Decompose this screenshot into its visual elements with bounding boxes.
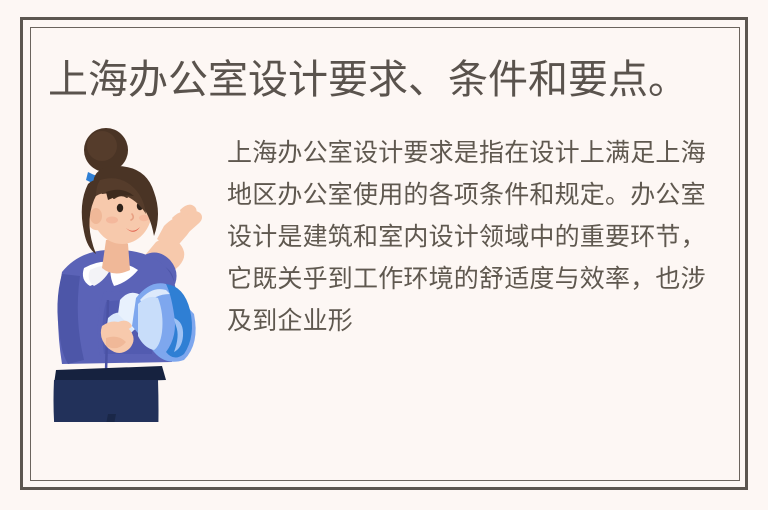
poster-canvas: 上海办公室设计要求、条件和要点。: [0, 0, 768, 510]
page-title: 上海办公室设计要求、条件和要点。: [48, 56, 720, 104]
woman-with-megaphone-illustration: [44, 122, 209, 422]
pants-group: [54, 366, 167, 422]
article-body: 上海办公室设计要求是指在设计上满足上海地区办公室使用的各项条件和规定。办公室设计…: [227, 132, 727, 342]
neck: [102, 240, 130, 274]
